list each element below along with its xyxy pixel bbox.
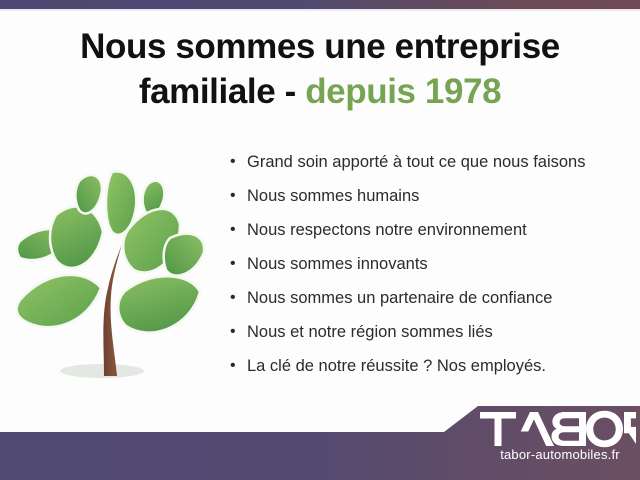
list-item: Nous respectons notre environnement [230,218,630,252]
list-item: Nous et notre région sommes liés [230,320,630,354]
title-line-2: familiale - depuis 1978 [0,71,640,114]
slide-canvas: Nous sommes une entreprise familiale - d… [0,0,640,480]
list-item: Nous sommes humains [230,184,630,218]
list-item: Grand soin apporté à tout ce que nous fa… [230,150,630,184]
list-item: Nous sommes un partenaire de confiance [230,286,630,320]
page-title: Nous sommes une entreprise familiale - d… [0,26,640,113]
title-line-2-black: familiale - [139,72,305,111]
logo-tagline[interactable]: tabor-automobiles.fr [484,447,636,462]
benefits-list: Grand soin apporté à tout ce que nous fa… [230,150,630,388]
tree-shadow [60,364,144,378]
tabor-logo[interactable] [478,410,636,472]
tabor-wordmark [480,411,636,447]
list-item: Nous sommes innovants [230,252,630,286]
title-line-1: Nous sommes une entreprise [0,26,640,69]
top-accent-bar [0,0,640,9]
list-item: La clé de notre réussite ? Nos employés. [230,354,630,388]
title-accent-depuis: depuis 1978 [305,72,501,111]
top-bar-hairline [0,9,640,11]
tree-illustration [8,140,218,390]
